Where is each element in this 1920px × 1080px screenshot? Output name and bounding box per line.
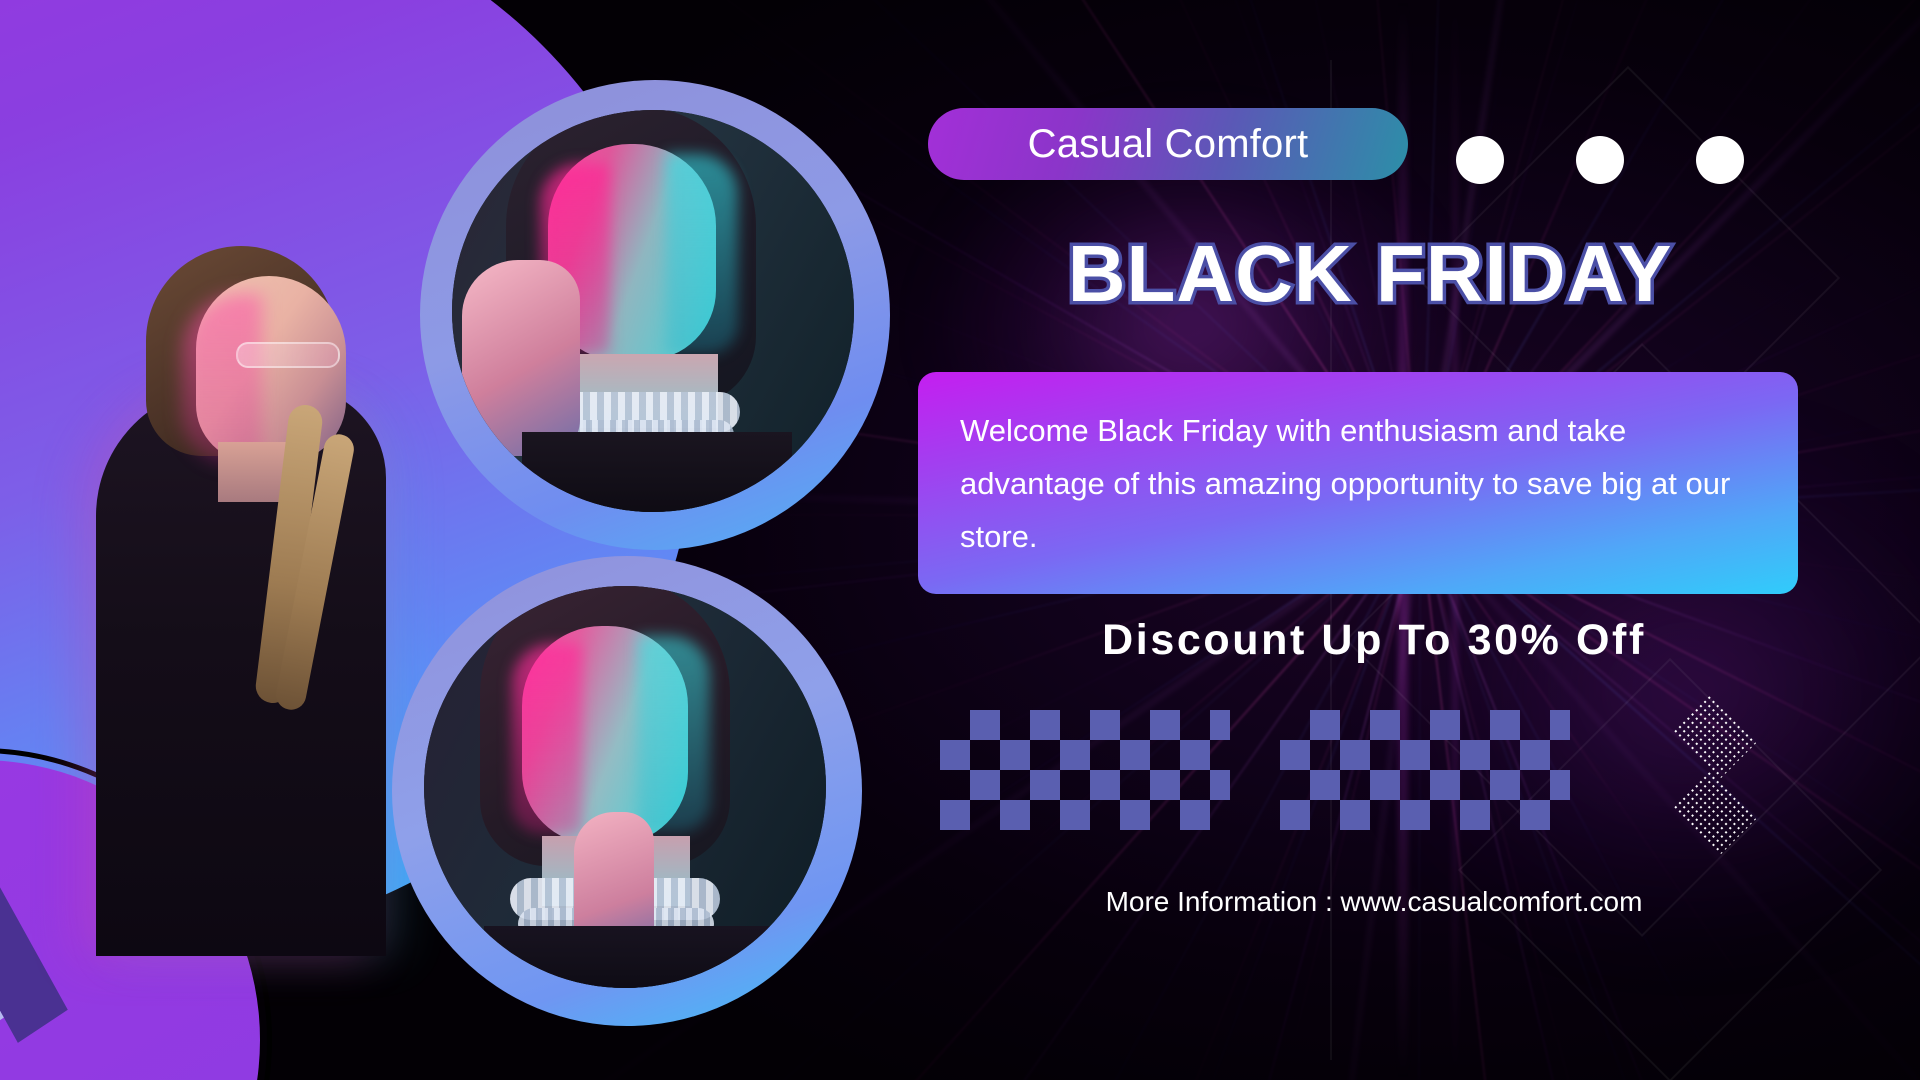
portrait-photo-upper	[452, 110, 854, 512]
discount-line: Discount Up To 30% Off	[934, 616, 1814, 665]
decor-dot-2	[1576, 136, 1624, 184]
description-box: Welcome Black Friday with enthusiasm and…	[918, 372, 1798, 594]
checker-block-2	[1280, 710, 1570, 830]
brand-pill[interactable]: Casual Comfort	[928, 108, 1408, 180]
decor-dots-row	[1456, 136, 1744, 184]
black-friday-banner: Casual Comfort BLACK FRIDAY Welcome Blac…	[0, 0, 1920, 1080]
checker-pattern-group	[940, 710, 1570, 830]
model-hoodie-photo	[86, 236, 396, 956]
description-text: Welcome Black Friday with enthusiasm and…	[960, 404, 1756, 563]
diamond-halftone-decor	[1668, 700, 1760, 850]
content-column: Casual Comfort BLACK FRIDAY Welcome Blac…	[928, 0, 1920, 1080]
headline-black-friday: BLACK FRIDAY	[930, 228, 1810, 320]
decor-dot-1	[1456, 136, 1504, 184]
checker-block-1	[940, 710, 1230, 830]
brand-pill-label: Casual Comfort	[1028, 122, 1309, 167]
decor-dot-3	[1696, 136, 1744, 184]
portrait-photo-lower	[424, 586, 826, 988]
more-information-text[interactable]: More Information : www.casualcomfort.com	[934, 886, 1814, 918]
